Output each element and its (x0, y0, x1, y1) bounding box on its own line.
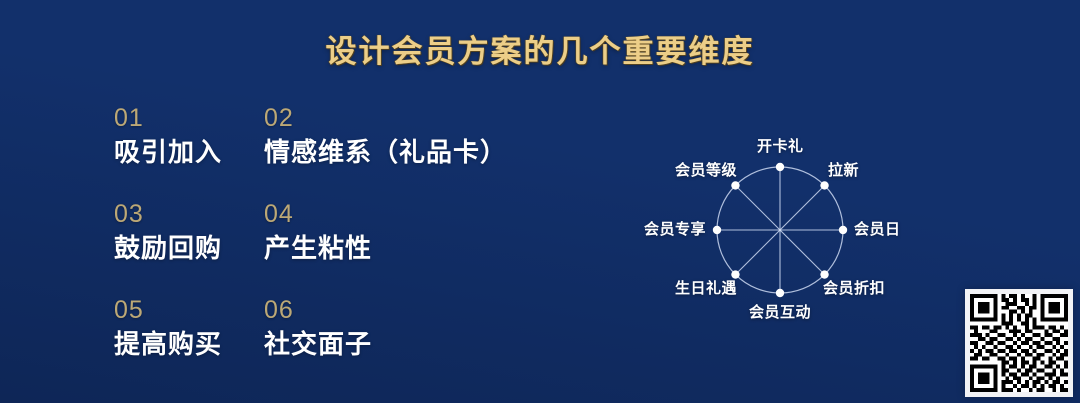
dimension-number: 02 (264, 104, 564, 132)
wheel-node-label: 拉新 (828, 162, 859, 180)
dimension-number: 05 (114, 296, 264, 324)
dimension-label: 鼓励回购 (114, 232, 264, 264)
wheel-spoke (735, 185, 780, 230)
dimension-item-04: 04 产生粘性 (264, 200, 564, 264)
dimension-item-02: 02 情感维系（礼品卡） (264, 104, 564, 168)
wheel-node-dot[interactable] (713, 226, 721, 234)
wheel-spoke (780, 185, 825, 230)
dimension-label: 社交面子 (264, 328, 564, 360)
list-row: 05 提高购买 06 社交面子 (114, 296, 564, 360)
slide-root: 设计会员方案的几个重要维度 01 吸引加入 02 情感维系（礼品卡） 03 鼓励… (0, 0, 1080, 403)
dimension-number: 04 (264, 200, 564, 228)
wheel-spoke (735, 230, 780, 275)
wheel-geometry (713, 163, 847, 297)
dimension-label: 产生粘性 (264, 232, 564, 264)
wheel-node-dot[interactable] (820, 270, 828, 278)
dimension-number: 01 (114, 104, 264, 132)
dimension-label: 情感维系（礼品卡） (264, 136, 564, 168)
wheel-node-label: 开卡礼 (757, 138, 804, 156)
dimension-item-05: 05 提高购买 (114, 296, 264, 360)
wheel-node-dot[interactable] (776, 289, 784, 297)
list-row: 01 吸引加入 02 情感维系（礼品卡） (114, 104, 564, 168)
qr-code[interactable] (965, 289, 1073, 397)
wheel-node-dot[interactable] (839, 226, 847, 234)
dimension-item-06: 06 社交面子 (264, 296, 564, 360)
qr-code-image (970, 294, 1068, 392)
wheel-node-label: 会员折扣 (823, 280, 885, 298)
dimension-list: 01 吸引加入 02 情感维系（礼品卡） 03 鼓励回购 04 产生粘性 05 … (114, 104, 564, 360)
wheel-node-label: 会员互动 (749, 304, 811, 322)
list-row: 03 鼓励回购 04 产生粘性 (114, 200, 564, 264)
wheel-node-label: 会员日 (854, 221, 901, 239)
dimension-item-01: 01 吸引加入 (114, 104, 264, 168)
wheel-spoke (780, 230, 825, 275)
wheel-node-dot[interactable] (820, 181, 828, 189)
wheel-node-label: 会员专享 (644, 221, 706, 239)
membership-wheel-diagram: 开卡礼拉新会员日会员折扣会员互动生日礼遇会员专享会员等级 (596, 100, 968, 370)
wheel-node-dot[interactable] (731, 181, 739, 189)
page-title: 设计会员方案的几个重要维度 (0, 33, 1080, 71)
dimension-label: 提高购买 (114, 328, 264, 360)
wheel-node-dot[interactable] (731, 270, 739, 278)
wheel-node-label: 会员等级 (675, 162, 737, 180)
dimension-label: 吸引加入 (114, 136, 264, 168)
dimension-item-03: 03 鼓励回购 (114, 200, 264, 264)
dimension-number: 06 (264, 296, 564, 324)
dimension-number: 03 (114, 200, 264, 228)
wheel-node-label: 生日礼遇 (675, 280, 737, 298)
wheel-node-dot[interactable] (776, 163, 784, 171)
